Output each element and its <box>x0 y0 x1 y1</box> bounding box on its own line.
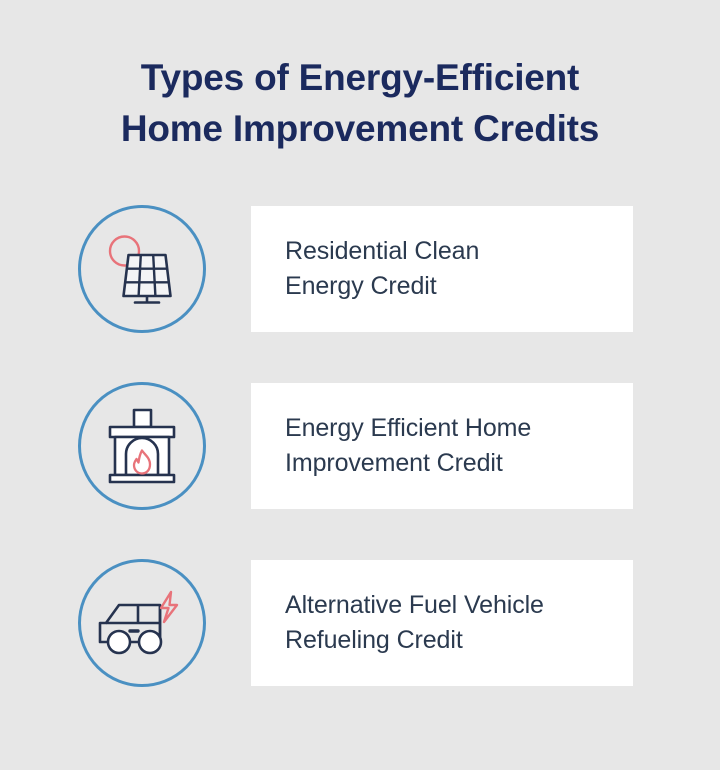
electric-vehicle-icon-circle <box>78 559 206 687</box>
credit-card-label: Energy Efficient Home Improvement Credit <box>251 411 565 481</box>
page-title-line-2: Home Improvement Credits <box>0 103 720 154</box>
credit-label-line-2: Refueling Credit <box>285 626 463 654</box>
credit-card-alternative-fuel-vehicle-refueling: Alternative Fuel Vehicle Refueling Credi… <box>251 560 633 686</box>
solar-panel-icon <box>101 230 183 308</box>
credit-label-line-1: Energy Efficient Home <box>285 414 531 442</box>
list-item: Residential Clean Energy Credit <box>0 205 720 333</box>
credit-label-line-2: Improvement Credit <box>285 449 503 477</box>
credit-label-line-1: Alternative Fuel Vehicle <box>285 591 544 619</box>
credit-card-label: Residential Clean Energy Credit <box>251 234 513 304</box>
credit-card-label: Alternative Fuel Vehicle Refueling Credi… <box>251 588 578 658</box>
fireplace-icon-circle <box>78 382 206 510</box>
credit-label-line-2: Energy Credit <box>285 272 437 300</box>
credit-card-residential-clean-energy: Residential Clean Energy Credit <box>251 206 633 332</box>
fireplace-icon <box>104 407 180 485</box>
list-item: Alternative Fuel Vehicle Refueling Credi… <box>0 559 720 687</box>
electric-vehicle-icon <box>97 590 187 656</box>
credit-type-list: Residential Clean Energy Credit <box>0 205 720 687</box>
page-title-line-1: Types of Energy-Efficient <box>0 52 720 103</box>
page-title: Types of Energy-Efficient Home Improveme… <box>0 52 720 154</box>
solar-panel-icon-circle <box>78 205 206 333</box>
credit-label-line-1: Residential Clean <box>285 237 479 265</box>
credit-card-energy-efficient-home-improvement: Energy Efficient Home Improvement Credit <box>251 383 633 509</box>
list-item: Energy Efficient Home Improvement Credit <box>0 382 720 510</box>
infographic-root: Types of Energy-Efficient Home Improveme… <box>0 0 720 770</box>
